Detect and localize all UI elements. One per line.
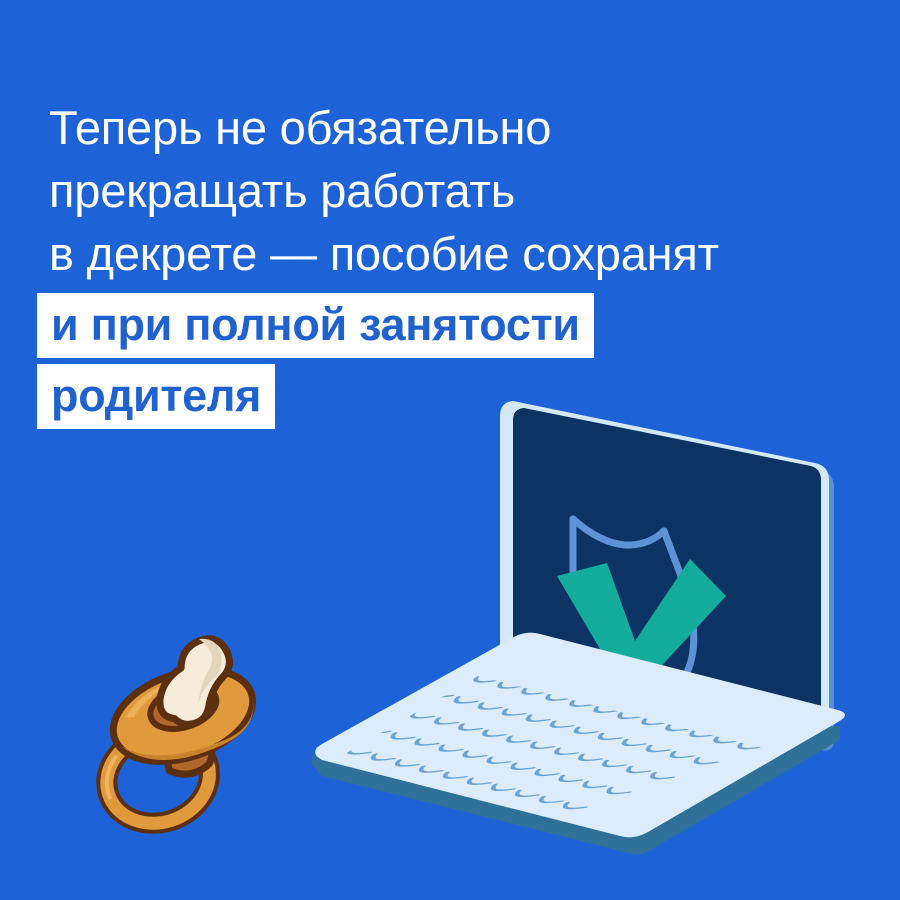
laptop-illustration: [300, 380, 860, 880]
pacifier-illustration: [62, 596, 302, 836]
headline-line-3: в декрете — пособие сохранят: [49, 230, 900, 293]
headline-line-2: прекращать работать: [49, 167, 900, 230]
headline-highlight-wrapper-1: и при полной занятости: [37, 293, 900, 364]
headline-highlight-2: родителя: [37, 364, 275, 429]
poster-canvas: Теперь не обязательно прекращать работат…: [0, 0, 900, 900]
headline-line-1: Теперь не обязательно: [49, 104, 900, 167]
headline-highlight-1: и при полной занятости: [37, 293, 594, 358]
